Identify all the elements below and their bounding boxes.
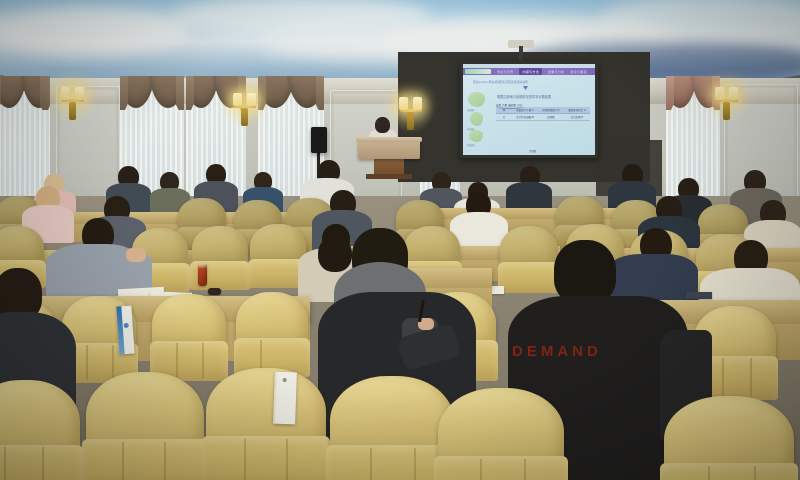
- slide-tab-2: 结果与分析: [548, 69, 564, 74]
- slide-nav-bar: 导论与背景 内容与方法 结果与分析 结论与展望: [463, 68, 595, 75]
- map-region-icon: [469, 130, 483, 142]
- conference-room-photo: 导论与背景 内容与方法 结果与分析 结论与展望 研究problem所在领域研究范…: [0, 0, 800, 480]
- table-cell: 环境管理部门 A: [538, 107, 564, 113]
- lamp-shade-icon: [413, 97, 422, 110]
- table-cell: 综合因素 B: [564, 114, 590, 120]
- lamp-shade-icon: [75, 87, 84, 100]
- map-label-1: 区域图 2: [467, 127, 475, 131]
- presenter-head: [375, 117, 390, 133]
- slide-table-title: 根据注册地与处理情况的样本分数结果: [497, 94, 551, 99]
- hand: [126, 248, 146, 262]
- lamp-shade-icon: [729, 87, 738, 100]
- lamp-shade-icon: [233, 93, 242, 106]
- valance: [0, 76, 50, 110]
- cloud: [0, 8, 190, 54]
- slide-data-table: 运算数 计量 最近数据 合计 注销数 甲 组织部门人数 A 环境管理部门 A 教…: [496, 102, 590, 121]
- map-region-icon: [470, 112, 483, 126]
- podium: [358, 140, 420, 178]
- wall-sconce: [232, 92, 258, 126]
- program-booklet: [273, 372, 297, 425]
- chair: [438, 388, 564, 480]
- wall-sconce: [398, 96, 424, 130]
- chair: [236, 292, 308, 374]
- table-cell: 乙: [496, 114, 512, 120]
- table-header-cell: 计量: [501, 102, 509, 108]
- chair: [206, 368, 326, 480]
- jacket-print-text: DEMAND: [512, 344, 622, 360]
- chair: [152, 294, 226, 378]
- wall-sconce: [714, 86, 740, 120]
- table-row: 乙 生产作业规模 B 实验数 综合因素 B: [496, 114, 590, 121]
- table-cell: 生产作业规模 B: [512, 114, 538, 120]
- wall-sconce: [60, 86, 86, 120]
- slide-logo: [465, 69, 491, 74]
- table-note: 注销数: [529, 149, 536, 153]
- table-header-cell: 最近数据: [508, 102, 516, 108]
- lamp-shade-icon: [715, 87, 724, 100]
- window: [0, 76, 50, 200]
- chair: [664, 396, 794, 480]
- lamp-shade-icon: [247, 93, 256, 106]
- chair: [500, 226, 558, 290]
- slide-subtitle: 研究problem所在领域研究范围及其相关说明: [473, 80, 528, 84]
- projector-mount: [519, 46, 523, 62]
- slide-pointer-icon: [523, 86, 528, 90]
- chair: [0, 380, 80, 480]
- presentation-slide: 导论与背景 内容与方法 结果与分析 结论与展望 研究problem所在领域研究范…: [463, 64, 595, 155]
- smartphone: [686, 292, 712, 299]
- slide-tab-1: 内容与方法: [519, 68, 541, 75]
- tea-glass: [198, 264, 207, 286]
- map-label-0: 区域图 1: [467, 108, 475, 112]
- chair: [86, 372, 204, 480]
- table-cell: 实验数: [538, 114, 564, 120]
- table-header-cell: 合计: [516, 102, 524, 108]
- lamp-shade-icon: [399, 97, 408, 110]
- table-header-row: 运算数 计量 最近数据 合计: [496, 102, 524, 109]
- lamp-shade-icon: [61, 87, 70, 100]
- map-region-icon: [468, 92, 485, 107]
- map-label-2: 区域图 3: [467, 143, 475, 147]
- valance: [120, 76, 184, 110]
- table-cell: 教育影响合计 A: [564, 107, 590, 113]
- slide-tab-3: 结论与展望: [570, 69, 586, 74]
- slide-side-maps: 区域图 1 区域图 2 区域图 3: [465, 90, 491, 146]
- loudspeaker: [311, 127, 327, 153]
- slide-tab-0: 导论与背景: [497, 69, 513, 74]
